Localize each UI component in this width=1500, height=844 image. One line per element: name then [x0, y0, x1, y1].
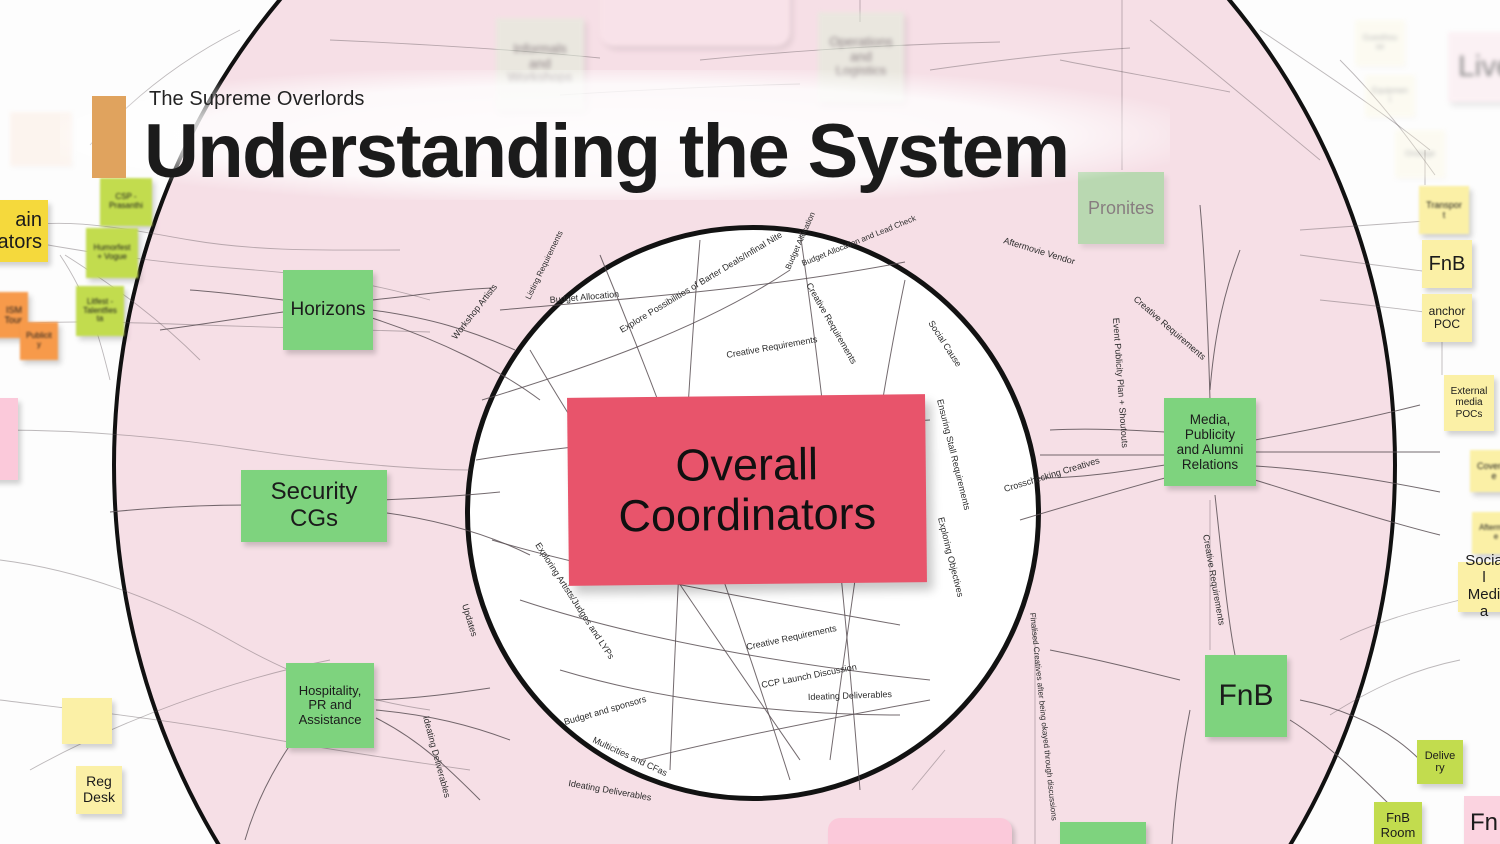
node-line: Assistance	[299, 713, 362, 728]
edge-label-creative-requirements-5: Creative Requirements	[745, 623, 838, 652]
edge-label-creative-requirements-4: Creative Requirements	[1201, 534, 1227, 627]
sticky-note-equipment[interactable]: Equipment	[1365, 75, 1415, 117]
sticky-note-fnb-room[interactable]: FnB Room	[1374, 802, 1422, 844]
note-line: Social	[1464, 553, 1500, 587]
note-line: Operations	[829, 35, 893, 50]
edge-label-budget-and-sponsors: Budget and sponsors	[563, 694, 648, 727]
edge-label-ensuring-stall-requirements: Ensuring Stall Requirements	[935, 398, 972, 512]
note-line: and	[529, 57, 551, 72]
note-line: FnB	[1386, 811, 1410, 826]
node-line: Publicity	[1185, 427, 1235, 442]
edge-label-crosschecking-creatives: Crosschecking Creatives	[1003, 455, 1102, 494]
note-line: POC	[1434, 318, 1460, 331]
sticky-note-onstage[interactable]: Onstage	[1395, 130, 1445, 178]
edge-label-budget-allocation-lead-check: Budget Allocation and Lead Check	[800, 213, 918, 268]
note-line: media	[1455, 397, 1482, 408]
sticky-note-fnb[interactable]: FnB	[1422, 240, 1472, 288]
note-line: External	[1451, 386, 1488, 397]
edge-label-listing-requirements: Listing Requirements	[524, 229, 565, 300]
node-line: Hospitality,	[299, 684, 362, 699]
node-line: PR and	[308, 698, 351, 713]
sticky-note-aftermovie[interactable]: Aftermovie	[1472, 512, 1500, 554]
edge-label-ideating-deliverables-1: Ideating Deliverables	[808, 689, 893, 702]
edge-label-ccp-launch-discussion: CCP Launch Discussion	[760, 662, 857, 690]
note-line: Talentfiesta	[82, 307, 118, 325]
title-accent-bar	[92, 96, 126, 178]
node-line: CGs	[290, 506, 338, 533]
node-fnb[interactable]: FnB	[1205, 655, 1287, 737]
sticky-note-delivery[interactable]: Delivery	[1417, 740, 1463, 784]
sticky-note-guesthouse[interactable]: Guesthouse	[1355, 20, 1405, 66]
node-bottom-green[interactable]	[1060, 822, 1146, 844]
mindmap-canvas: Workshop Artists Listing Requirements Bu…	[0, 0, 1500, 844]
note-line: Workshops	[508, 71, 573, 86]
sticky-note-left-yellow-blank[interactable]	[62, 698, 112, 744]
sticky-note-live[interactable]: Live	[1448, 32, 1500, 102]
sticky-note-transport[interactable]: Transport	[1419, 186, 1469, 234]
sticky-note-faded-left-top[interactable]	[10, 112, 72, 166]
note-line: ain	[15, 209, 42, 231]
note-line: Logistics	[836, 64, 887, 79]
node-hospitality-pr-assistance[interactable]: Hospitality, PR and Assistance	[286, 663, 374, 748]
sticky-note-humorfest-vogue[interactable]: Humorfest + Vogue	[86, 228, 138, 278]
edge-label-updates: Updates	[460, 603, 480, 638]
edge-label-creative-requirements-3: Creative Requirements	[1132, 294, 1208, 362]
node-line: Relations	[1182, 457, 1238, 472]
sticky-note-coverage[interactable]: Coverage	[1470, 450, 1500, 492]
node-bottom-pink[interactable]	[828, 818, 1012, 844]
note-line: anchor	[1429, 305, 1466, 318]
hub-line-2: Coordinators	[618, 489, 876, 542]
edge-label-event-publicity-plan: Event Publicity Plan + Shoutouts	[1111, 317, 1130, 448]
edge-label-explore-barter: Explore Possibilities of Barter Deals/In…	[618, 230, 784, 335]
node-line: Security	[271, 479, 358, 506]
sticky-note-publicity[interactable]: Publicity	[20, 322, 58, 360]
sticky-note-faded-top-pink[interactable]	[600, 0, 790, 46]
note-line: Media	[1464, 587, 1500, 621]
edge-label-ideating-deliverables-3: Ideating Deliverables	[421, 715, 453, 799]
sticky-note-external-media-pocs[interactable]: External media POCs	[1444, 375, 1494, 431]
sticky-note-anchor-poc[interactable]: anchor POC	[1422, 294, 1472, 342]
note-line: ISM	[6, 305, 22, 315]
edge-label-social-cause: Social Cause	[926, 319, 963, 369]
sticky-note-litfest-talentfiesta[interactable]: Litfest - Talentfiesta	[76, 286, 124, 336]
edge-label-multicities-and-cfas: Multicities and CFas	[591, 735, 669, 779]
sticky-note-left-pink-1[interactable]	[0, 398, 18, 480]
sticky-note-reg-desk[interactable]: Reg Desk	[76, 766, 122, 814]
note-line: and	[850, 50, 872, 65]
note-line: nators	[0, 231, 42, 253]
note-line: POCs	[1456, 409, 1483, 420]
edge-label-creative-requirements-1: Creative Requirements	[726, 334, 819, 360]
node-security-cgs[interactable]: Security CGs	[241, 470, 387, 542]
edge-label-finalised-creatives: Finalised Creatives after being okayed t…	[1028, 612, 1059, 821]
note-line: Prasanthi	[109, 202, 143, 211]
node-line: and Alumni	[1177, 442, 1244, 457]
hub-line-1: Overall	[618, 438, 876, 491]
node-line: Media,	[1190, 412, 1231, 427]
slide-headline: Understanding the System	[144, 108, 1068, 195]
sticky-note-main-coordinators[interactable]: ain nators	[0, 200, 48, 262]
node-overall-coordinators[interactable]: Overall Coordinators	[567, 394, 927, 586]
node-horizons[interactable]: Horizons	[283, 270, 373, 350]
edge-label-aftermovie-vendor: Aftermovie Vendor	[1002, 235, 1076, 266]
node-media-publicity-alumni[interactable]: Media, Publicity and Alumni Relations	[1164, 398, 1256, 486]
note-line: Desk	[83, 790, 115, 806]
note-line: Room	[1381, 826, 1416, 841]
sticky-note-operations-and-logistics[interactable]: Operations and Logistics	[818, 12, 904, 102]
note-line: Informals	[513, 42, 566, 57]
sticky-note-informals-and-workshops[interactable]: Informals and Workshops	[496, 18, 584, 110]
sticky-note-social-media[interactable]: Social Media	[1458, 562, 1500, 612]
edge-label-ideating-deliverables-2: Ideating Deliverables	[568, 778, 653, 803]
node-pronites[interactable]: Pronites	[1078, 172, 1164, 244]
sticky-note-fnb-cut[interactable]: Fn	[1464, 796, 1500, 844]
note-line: + Vogue	[97, 253, 127, 262]
note-line: Reg	[86, 774, 112, 790]
edge-label-exploring-objectives: Exploring Objectives	[936, 516, 966, 599]
